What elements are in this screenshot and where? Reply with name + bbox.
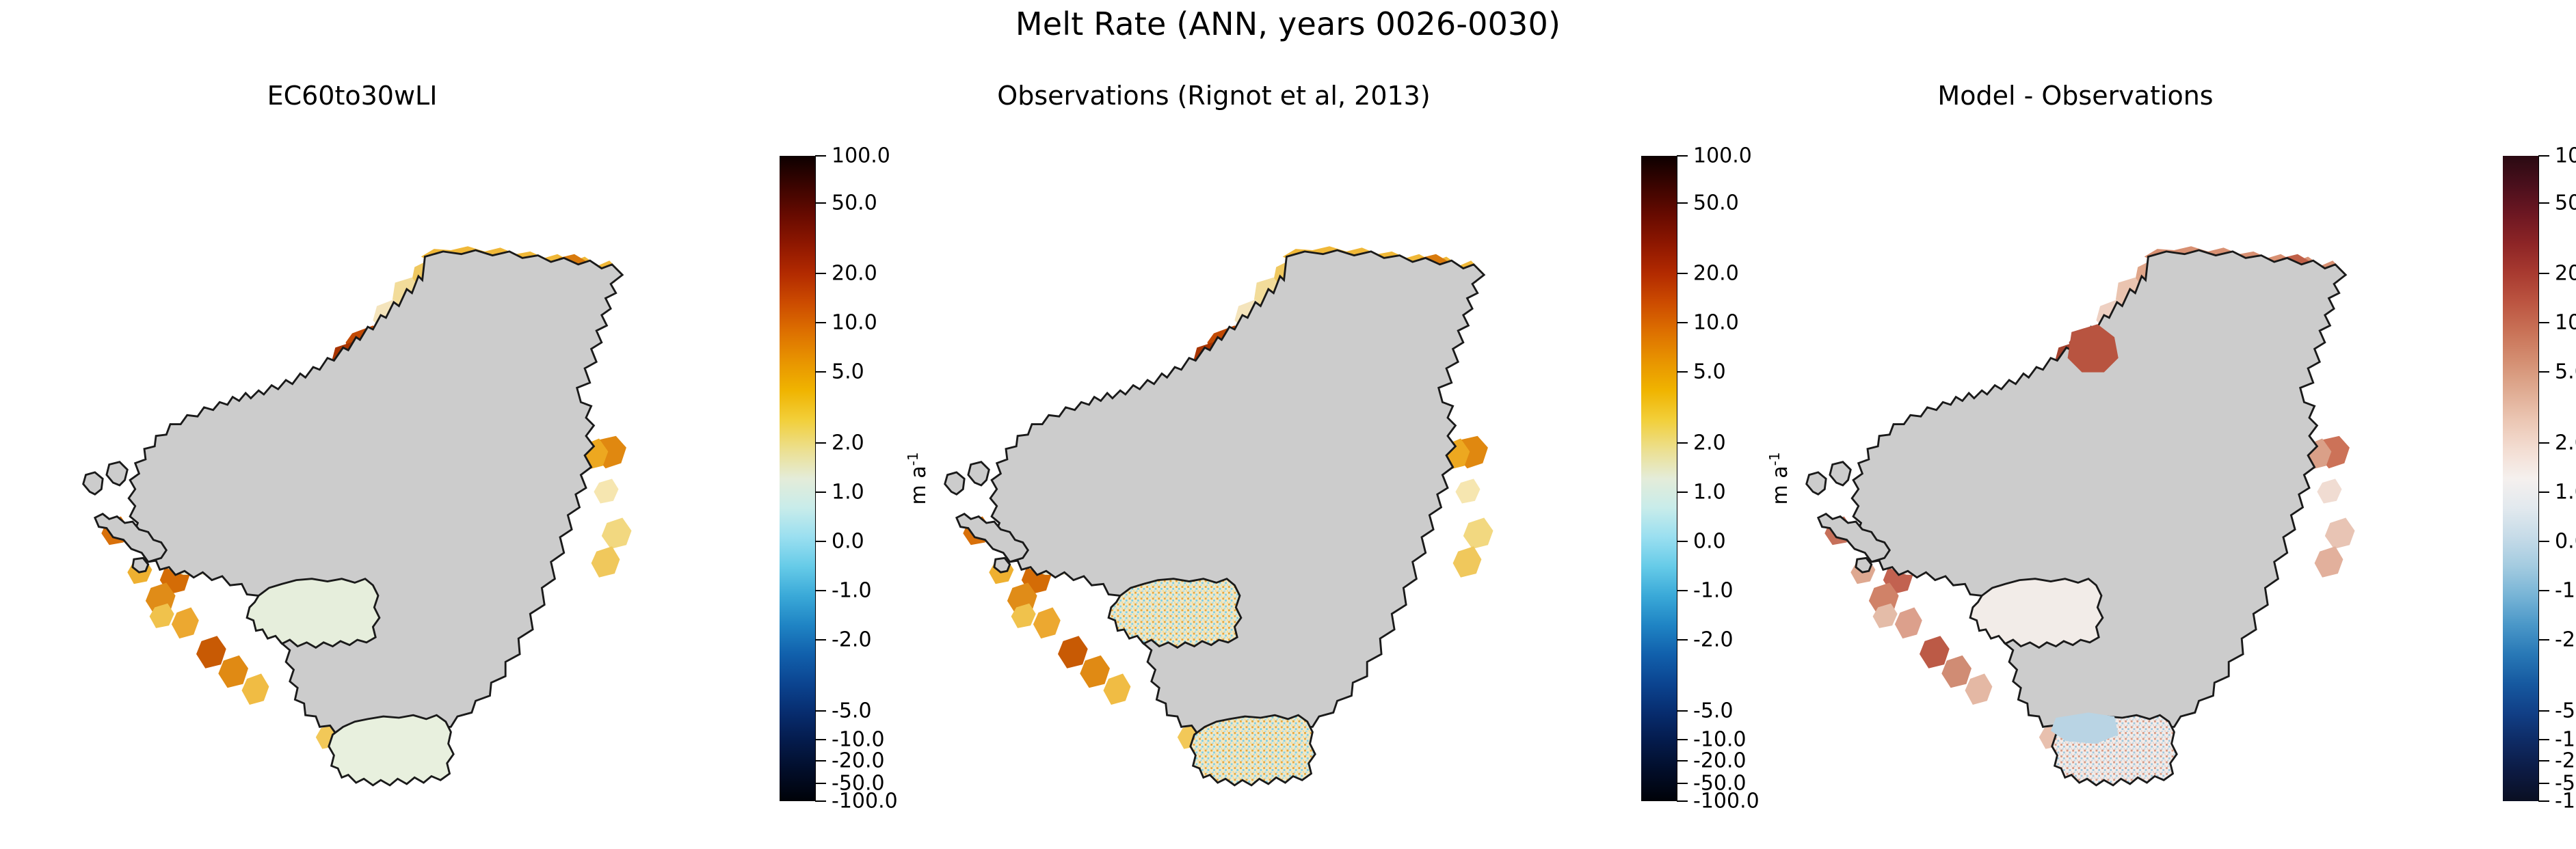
colorbar-tick-label: 10.0 xyxy=(832,310,877,334)
colorbar-difference[interactable]: 100.050.020.010.05.02.01.00.0-1.0-2.0-5.… xyxy=(2503,156,2576,801)
colorbar-tick-mark xyxy=(815,155,826,157)
map-observations xyxy=(889,122,1539,846)
colorbar-tick-mark xyxy=(815,202,826,204)
colorbar-tick-mark xyxy=(2538,710,2549,712)
colorbar-tick-mark xyxy=(2538,442,2549,444)
melt-rim-patch xyxy=(1941,656,1971,688)
panel-observations: Observations (Rignot et al, 2013) 100.05… xyxy=(889,66,1764,849)
figure-title: Melt Rate (ANN, years 0026-0030) xyxy=(0,5,2576,42)
colorbar-tick-label: -5.0 xyxy=(832,699,872,723)
colorbar-tick-label: 20.0 xyxy=(2555,261,2576,285)
colorbar-tick-label: 0.0 xyxy=(832,529,864,553)
colorbar-tick-mark xyxy=(815,783,826,784)
melt-rim-patch xyxy=(1453,546,1482,578)
colorbar-tick-label: 20.0 xyxy=(832,261,877,285)
panel-difference: Model - Observations 100.050.020.010.05.… xyxy=(1751,66,2576,849)
colorbar-tick-mark xyxy=(1677,202,1688,204)
colorbar-tick-label: 1.0 xyxy=(832,480,864,504)
colorbar-tick-label: -1.0 xyxy=(2555,579,2576,603)
colorbar-gradient-difference xyxy=(2503,156,2538,801)
colorbar-tick-mark xyxy=(815,800,826,802)
melt-rim-patch xyxy=(594,479,618,503)
colorbar-tick-label: -1.0 xyxy=(832,579,872,603)
antarctica-map-observations xyxy=(889,122,1539,846)
ronne-filchner-ice-shelf xyxy=(1970,579,2103,648)
colorbar-tick-label: 10.0 xyxy=(2555,310,2576,334)
colorbar-tick-label: 2.0 xyxy=(2555,431,2576,455)
melt-rim-patch xyxy=(1463,517,1493,549)
colorbar-tick-mark xyxy=(815,273,826,274)
colorbar-tick-label: 5.0 xyxy=(832,360,864,384)
melt-rim-patch xyxy=(1455,479,1480,503)
colorbar-tick-label: -10.0 xyxy=(832,728,885,752)
colorbar-tick-mark xyxy=(2538,783,2549,784)
colorbar-gradient-observations xyxy=(1641,156,1677,801)
map-model xyxy=(27,122,677,846)
colorbar-tick-mark xyxy=(2538,590,2549,591)
colorbar-tick-label: 2.0 xyxy=(832,431,864,455)
colorbar-tick-label: -5.0 xyxy=(2555,699,2576,723)
colorbar-tick-mark xyxy=(2538,491,2549,493)
colorbar-tick-mark xyxy=(815,639,826,641)
colorbar-tick-mark xyxy=(815,541,826,542)
offshore-island xyxy=(1856,558,1872,572)
offshore-island xyxy=(107,462,127,485)
colorbar-tick-mark xyxy=(2538,800,2549,802)
colorbar-tick-label: 0.0 xyxy=(2555,529,2576,553)
antarctica-landmass xyxy=(1852,250,2346,742)
colorbar-tick-label: -20.0 xyxy=(832,749,885,773)
colorbar-tick-mark xyxy=(1677,322,1688,323)
ronne-filchner-ice-shelf xyxy=(1108,579,1241,648)
antarctica-map-difference xyxy=(1751,122,2400,846)
colorbar-tick-mark xyxy=(1677,710,1688,712)
colorbar-tick-label: 0.0 xyxy=(1693,529,1726,553)
colorbar-tick-mark xyxy=(1677,590,1688,591)
colorbar-tick-mark xyxy=(1677,739,1688,740)
colorbar-tick-label: -2.0 xyxy=(832,628,872,652)
melt-rim-patch xyxy=(1920,636,1950,669)
melt-rim-patch xyxy=(172,608,199,639)
colorbar-tick-mark xyxy=(2538,371,2549,373)
offshore-island xyxy=(945,472,965,494)
colorbar-tick-mark xyxy=(2538,760,2549,762)
colorbar-tick-label: 20.0 xyxy=(1693,261,1739,285)
melt-rim-patch xyxy=(1033,608,1061,639)
colorbar-tick-label: -20.0 xyxy=(2555,749,2576,773)
panel-title-observations: Observations (Rignot et al, 2013) xyxy=(889,81,1539,111)
melt-rim-patch xyxy=(196,636,226,669)
ronne-filchner-ice-shelf xyxy=(247,579,380,648)
offshore-island xyxy=(83,472,103,494)
colorbar-tick-label: 1.0 xyxy=(2555,480,2576,504)
colorbar-tick-mark xyxy=(2538,202,2549,204)
colorbar-tick-label: -100.0 xyxy=(2555,790,2576,813)
colorbar-tick-mark xyxy=(815,739,826,740)
colorbar-tick-label: -10.0 xyxy=(2555,728,2576,752)
colorbar-tick-mark xyxy=(815,760,826,762)
colorbar-tick-label: -100.0 xyxy=(1693,790,1760,813)
colorbar-tick-label: 50.0 xyxy=(2555,191,2576,215)
colorbar-tick-mark xyxy=(1677,800,1688,802)
colorbar-tick-mark xyxy=(815,322,826,323)
colorbar-tick-mark xyxy=(2538,541,2549,542)
colorbar-tick-label: 100.0 xyxy=(2555,144,2576,168)
melt-rim-patch xyxy=(2315,546,2343,578)
colorbar-tick-mark xyxy=(1677,783,1688,784)
colorbar-tick-label: 1.0 xyxy=(1693,480,1726,504)
colorbar-tick-mark xyxy=(1677,639,1688,641)
antarctica-map-model xyxy=(27,122,677,846)
offshore-island xyxy=(1830,462,1850,485)
melt-rim-patch xyxy=(602,517,632,549)
offshore-island xyxy=(1807,472,1827,494)
colorbar-tick-label: 10.0 xyxy=(1693,310,1739,334)
melt-rim-patch xyxy=(242,673,269,705)
melt-rim-patch xyxy=(1080,656,1110,688)
map-difference xyxy=(1751,122,2400,846)
colorbar-tick-mark xyxy=(2538,273,2549,274)
colorbar-tick-mark xyxy=(1677,760,1688,762)
melt-rim-patch xyxy=(2325,517,2355,549)
colorbar-tick-label: 5.0 xyxy=(2555,360,2576,384)
colorbar-tick-label: -20.0 xyxy=(1693,749,1747,773)
ross-ice-shelf xyxy=(1191,715,1315,785)
melt-rim-patch xyxy=(1895,608,1922,639)
panel-title-model: EC60to30wLI xyxy=(27,81,677,111)
colorbar-tick-mark xyxy=(1677,155,1688,157)
melt-rim-patch xyxy=(1965,673,1993,705)
colorbar-tick-mark xyxy=(1677,442,1688,444)
melt-rim-patch xyxy=(1058,636,1088,669)
panel-model: EC60to30wLI 100.050.020.010.05.02.01.00.… xyxy=(27,66,903,849)
colorbar-tick-label: -2.0 xyxy=(2555,628,2576,652)
colorbar-tick-mark xyxy=(1677,371,1688,373)
colorbar-tick-label: 5.0 xyxy=(1693,360,1726,384)
offshore-island xyxy=(133,558,148,572)
colorbar-tick-mark xyxy=(2538,639,2549,641)
colorbar-tick-mark xyxy=(2538,739,2549,740)
colorbar-tick-label: 50.0 xyxy=(832,191,877,215)
antarctica-landmass xyxy=(990,250,1484,742)
colorbar-tick-mark xyxy=(1677,491,1688,493)
colorbar-tick-mark xyxy=(2538,322,2549,323)
colorbar-tick-mark xyxy=(815,590,826,591)
ross-ice-shelf xyxy=(329,715,453,785)
colorbar-tick-label: 2.0 xyxy=(1693,431,1726,455)
melt-rim-patch xyxy=(218,656,248,688)
colorbar-tick-mark xyxy=(815,371,826,373)
figure-root: Melt Rate (ANN, years 0026-0030) EC60to3… xyxy=(0,0,2576,849)
colorbar-tick-label: 100.0 xyxy=(832,144,890,168)
colorbar-tick-label: -100.0 xyxy=(832,790,898,813)
colorbar-tick-label: 100.0 xyxy=(1693,144,1752,168)
colorbar-tick-mark xyxy=(815,710,826,712)
colorbar-tick-mark xyxy=(815,491,826,493)
colorbar-tick-label: -10.0 xyxy=(1693,728,1747,752)
colorbar-gradient-model xyxy=(780,156,815,801)
panel-title-difference: Model - Observations xyxy=(1751,81,2400,111)
colorbar-tick-label: 50.0 xyxy=(1693,191,1739,215)
melt-rim-patch xyxy=(2317,479,2341,503)
colorbar-tick-label: -2.0 xyxy=(1693,628,1734,652)
antarctica-landmass xyxy=(129,250,622,742)
colorbar-tick-mark xyxy=(2538,155,2549,157)
colorbar-tick-mark xyxy=(1677,273,1688,274)
colorbar-tick-label: -5.0 xyxy=(1693,699,1734,723)
melt-rim-patch xyxy=(592,546,620,578)
colorbar-tick-mark xyxy=(1677,541,1688,542)
offshore-island xyxy=(994,558,1010,572)
melt-rim-patch xyxy=(1104,673,1131,705)
colorbar-tick-label: -1.0 xyxy=(1693,579,1734,603)
colorbar-tick-mark xyxy=(815,442,826,444)
offshore-island xyxy=(968,462,989,485)
